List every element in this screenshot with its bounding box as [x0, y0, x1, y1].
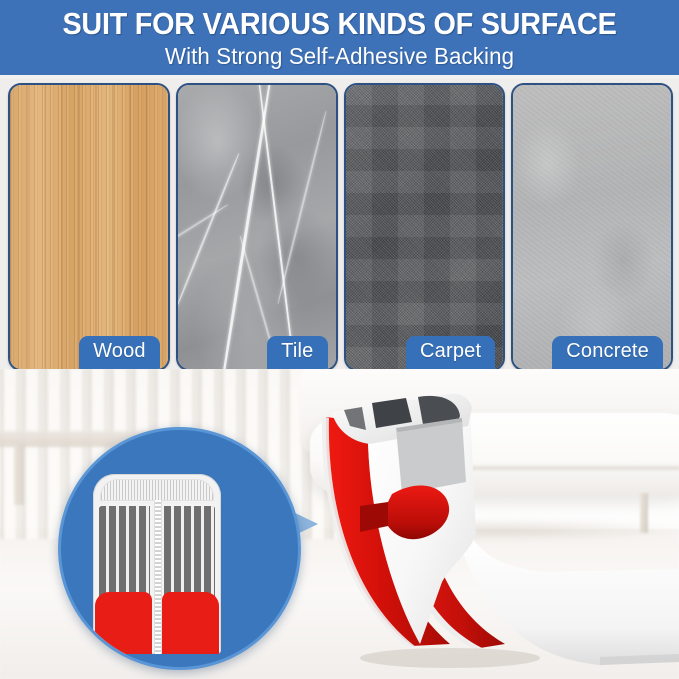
- surface-swatch-tile: Tile: [176, 83, 338, 371]
- seal-dome-top: [100, 479, 214, 501]
- surface-swatch-concrete: Concrete: [511, 83, 673, 371]
- wood-texture-icon: [10, 85, 168, 369]
- bench-leg: [14, 445, 24, 505]
- adhesive-tape-left: [95, 592, 152, 654]
- seal-center-spine: [154, 500, 162, 654]
- concrete-texture-icon: [513, 85, 671, 369]
- surface-swatch-wood: Wood: [8, 83, 170, 371]
- marble-vein: [176, 203, 228, 256]
- header-banner: SUIT FOR VARIOUS KINDS OF SURFACE With S…: [0, 0, 679, 75]
- surface-label-tile: Tile: [267, 336, 327, 371]
- seal-cross-section-diagram: [93, 474, 221, 654]
- adhesive-tape-right: [162, 592, 219, 654]
- carpet-texture-icon: [346, 85, 504, 369]
- magnifier-callout: [58, 427, 301, 670]
- surface-label-concrete: Concrete: [552, 336, 663, 371]
- surface-label-wood: Wood: [79, 336, 160, 371]
- page-title: SUIT FOR VARIOUS KINDS OF SURFACE: [24, 6, 655, 42]
- product-marketing-image: SUIT FOR VARIOUS KINDS OF SURFACE With S…: [0, 0, 679, 679]
- seal-strip-body: [460, 538, 679, 665]
- product-seal-strip: [300, 386, 679, 679]
- tile-texture-icon: [178, 85, 336, 369]
- product-shadow: [360, 648, 540, 668]
- surface-swatch-strip: Wood Tile Carpet Concrete: [0, 79, 679, 371]
- surface-label-carpet: Carpet: [406, 336, 495, 371]
- page-subtitle: With Strong Self-Adhesive Backing: [10, 42, 669, 70]
- marble-vein: [277, 110, 327, 303]
- surface-swatch-carpet: Carpet: [344, 83, 506, 371]
- marble-vein: [176, 153, 240, 312]
